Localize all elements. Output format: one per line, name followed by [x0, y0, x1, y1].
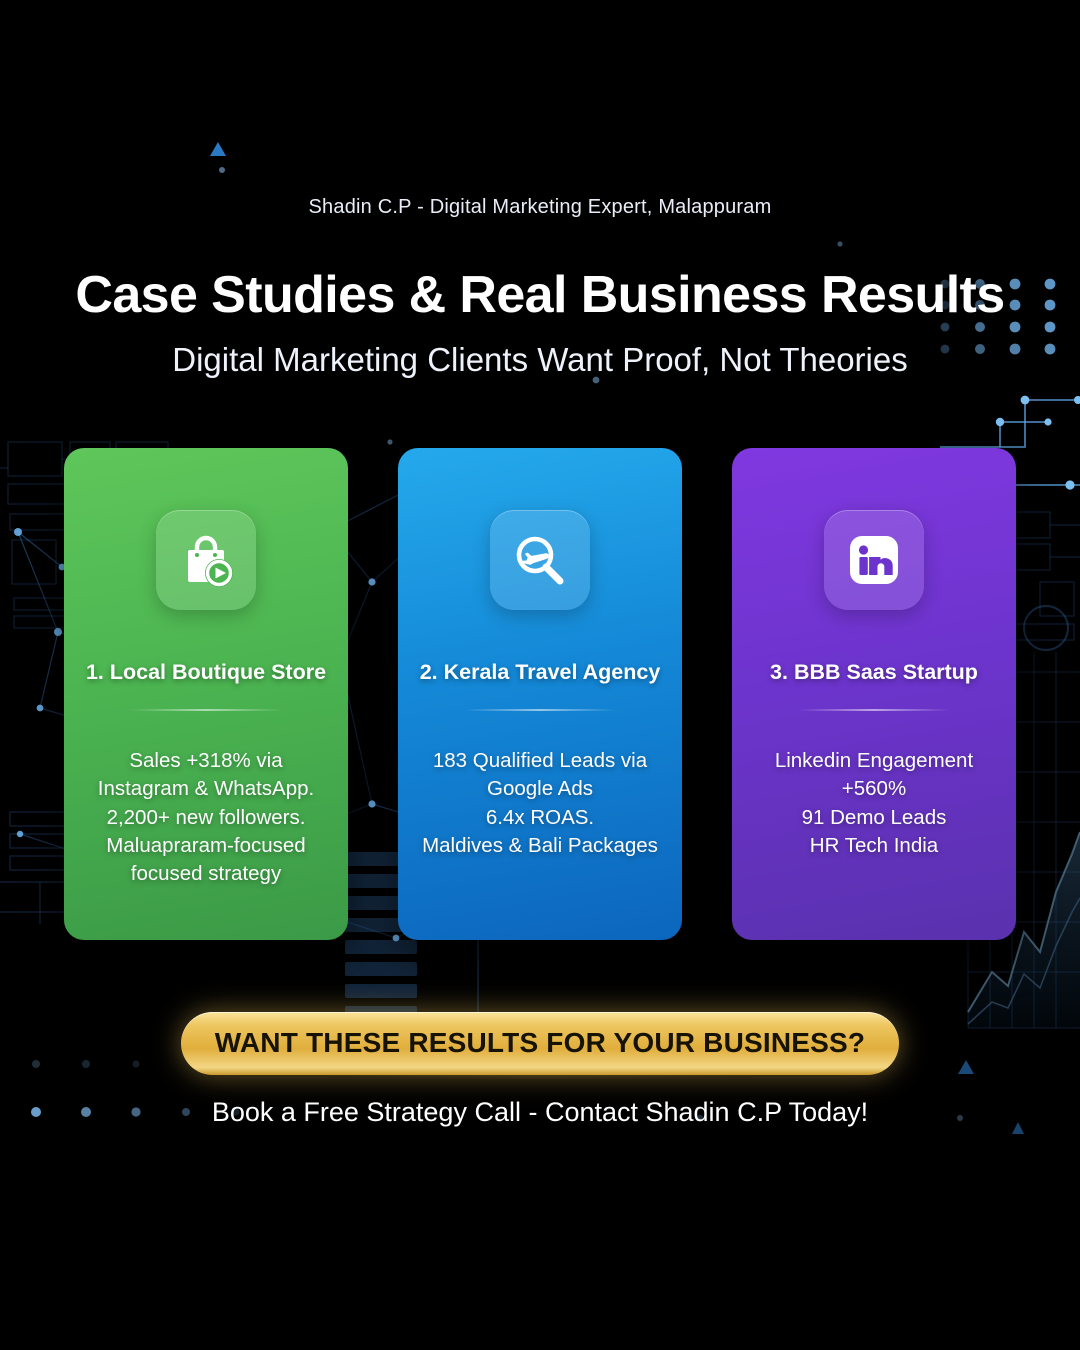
linkedin-icon [824, 510, 924, 610]
cta-subtext: Book a Free Strategy Call - Contact Shad… [0, 1097, 1080, 1128]
card-body-line: Maluapraram-focused [98, 832, 314, 860]
card-body-line: 91 Demo Leads [775, 804, 973, 832]
card-body-line: 183 Qualified Leads via [422, 747, 658, 775]
shopping-bag-play-icon [156, 510, 256, 610]
card-divider [798, 709, 950, 711]
card-body-line: HR Tech India [775, 832, 973, 860]
case-study-card-3-body: Linkedin Engagement +560% 91 Demo Leads … [761, 747, 987, 860]
header-block: Shadin C.P - Digital Marketing Expert, M… [0, 112, 1080, 379]
card-divider [130, 709, 282, 711]
card-body-line: 6.4x ROAS. [422, 804, 658, 832]
case-study-card-grid: 1. Local Boutique Store Sales +318% via … [64, 448, 1016, 940]
cta-block: WANT THESE RESULTS FOR YOUR BUSINESS? Bo… [0, 1012, 1080, 1128]
case-study-card-3[interactable]: 3. BBB Saas Startup Linkedin Engagement … [732, 448, 1016, 940]
case-study-card-2[interactable]: 2. Kerala Travel Agency 183 Qualified Le… [398, 448, 682, 940]
case-study-card-3-title: 3. BBB Saas Startup [760, 660, 988, 685]
card-body-line: Google Ads [422, 775, 658, 803]
cta-button[interactable]: WANT THESE RESULTS FOR YOUR BUSINESS? [181, 1012, 899, 1075]
author-kicker: Shadin C.P - Digital Marketing Expert, M… [0, 196, 1080, 219]
flight-search-icon [490, 510, 590, 610]
case-study-card-2-body: 183 Qualified Leads via Google Ads 6.4x … [408, 747, 672, 860]
letterbox-bottom [0, 1140, 1080, 1350]
letterbox-top [0, 0, 1080, 112]
card-body-line: Instagram & WhatsApp. [98, 775, 314, 803]
poster-root: Shadin C.P - Digital Marketing Expert, M… [0, 0, 1080, 1350]
page-subtitle: Digital Marketing Clients Want Proof, No… [0, 341, 1080, 379]
card-body-line: focused strategy [98, 860, 314, 888]
card-body-line: Linkedin Engagement [775, 747, 973, 775]
page-title: Case Studies & Real Business Results [0, 265, 1080, 325]
card-body-line: Sales +318% via [98, 747, 314, 775]
artwork-canvas: Shadin C.P - Digital Marketing Expert, M… [0, 112, 1080, 1140]
case-study-card-1-title: 1. Local Boutique Store [76, 660, 336, 685]
card-body-line: Maldives & Bali Packages [422, 832, 658, 860]
card-body-line: 2,200+ new followers. [98, 804, 314, 832]
card-body-line: +560% [775, 775, 973, 803]
case-study-card-1-body: Sales +318% via Instagram & WhatsApp. 2,… [84, 747, 328, 888]
case-study-card-2-title: 2. Kerala Travel Agency [410, 660, 671, 685]
card-divider [464, 709, 616, 711]
case-study-card-1[interactable]: 1. Local Boutique Store Sales +318% via … [64, 448, 348, 940]
